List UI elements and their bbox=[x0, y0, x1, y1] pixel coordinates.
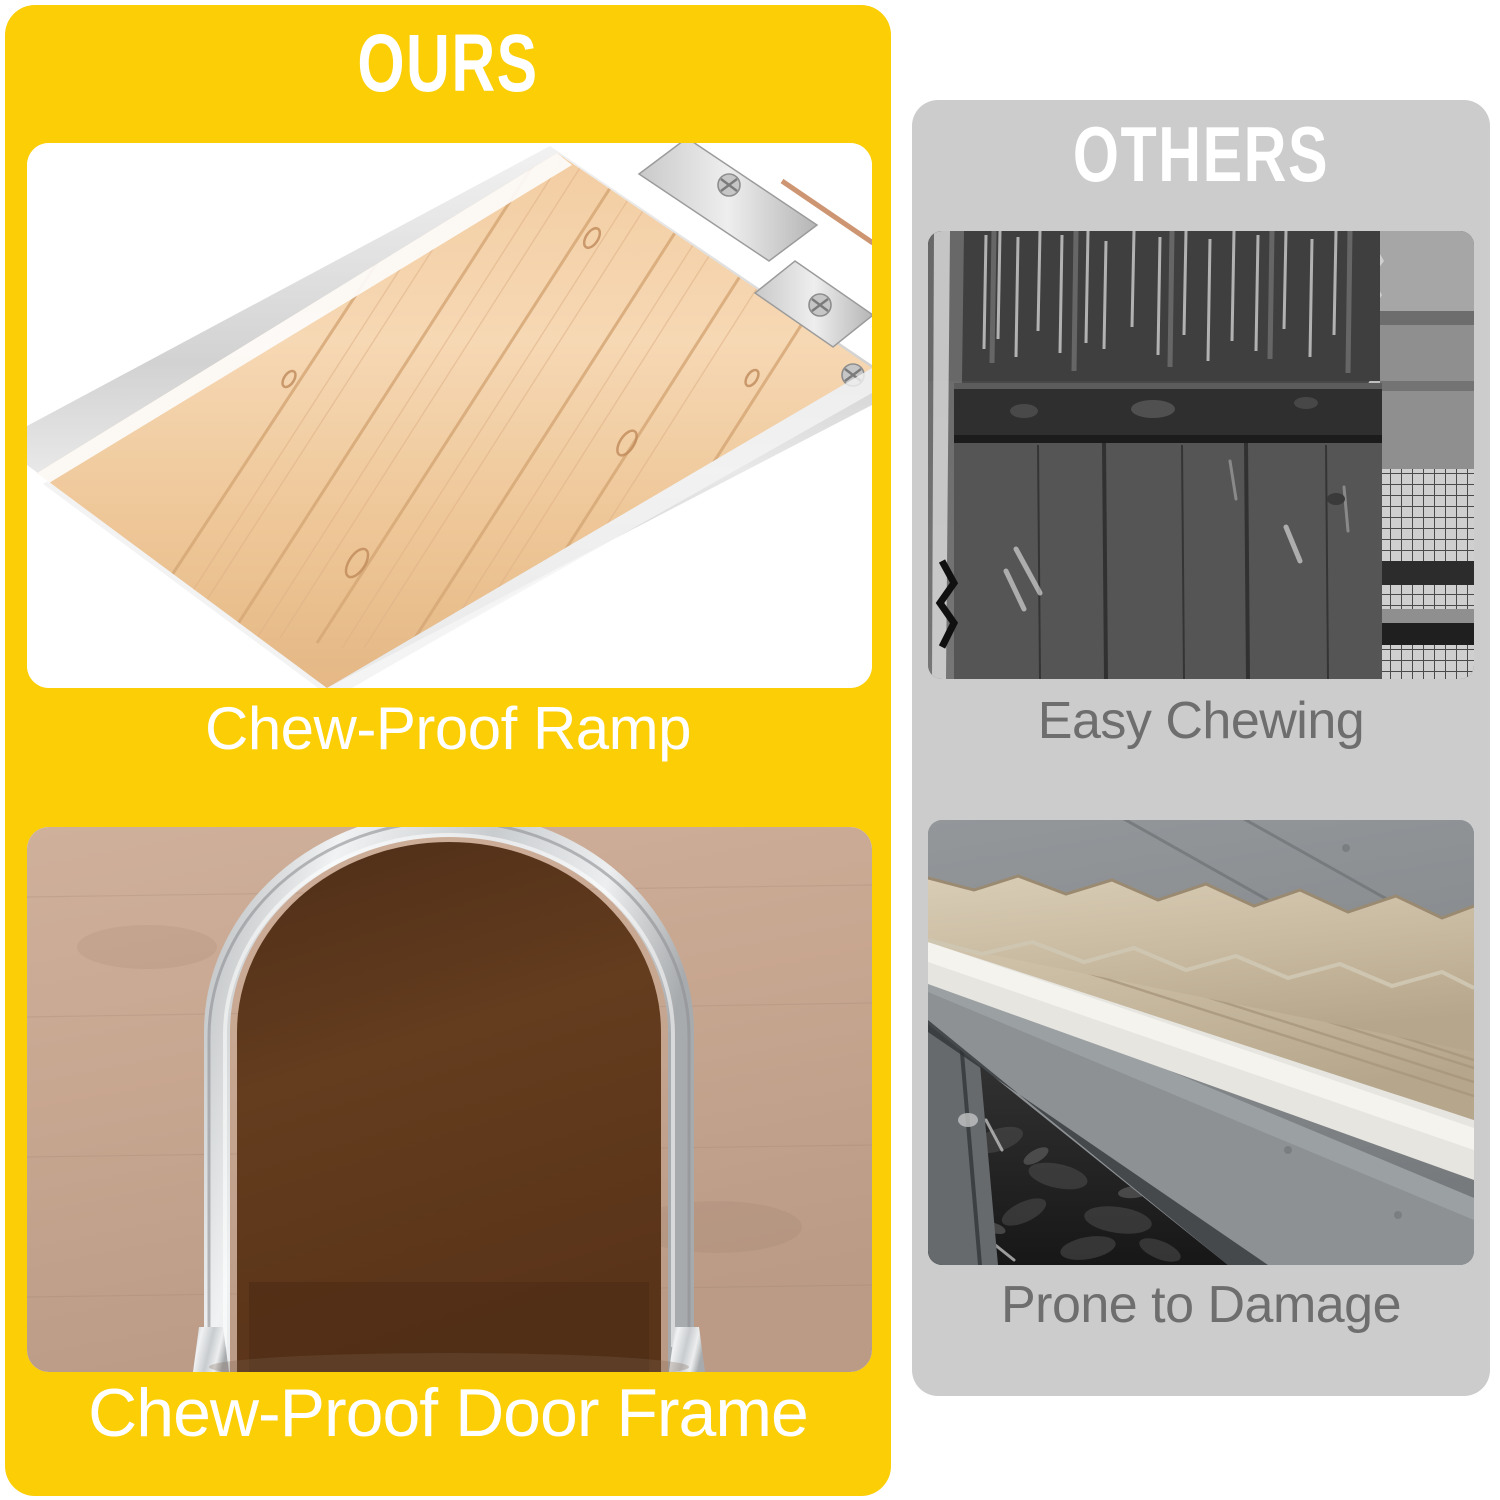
others-caption-prone-to-damage: Prone to Damage bbox=[912, 1276, 1490, 1334]
wooden-ramp-illustration bbox=[27, 143, 872, 688]
others-panel: OTHERS bbox=[912, 100, 1490, 1396]
chew-proof-ramp-photo bbox=[27, 143, 872, 688]
prone-to-damage-photo bbox=[928, 820, 1474, 1265]
arched-door-frame-illustration bbox=[27, 827, 872, 1372]
ours-heading: OURS bbox=[120, 23, 776, 105]
ours-caption-ramp: Chew-Proof Ramp bbox=[5, 697, 891, 761]
ours-panel: OURS bbox=[5, 5, 891, 1496]
others-caption-easy-chewing: Easy Chewing bbox=[912, 692, 1490, 750]
easy-chewing-photo bbox=[928, 231, 1474, 679]
others-heading: OTHERS bbox=[981, 114, 1420, 194]
damaged-painted-wood-illustration bbox=[928, 820, 1474, 1265]
chewed-wood-illustration bbox=[928, 231, 1474, 679]
chew-proof-door-frame-photo bbox=[27, 827, 872, 1372]
ours-caption-door-frame: Chew-Proof Door Frame bbox=[5, 1377, 891, 1449]
